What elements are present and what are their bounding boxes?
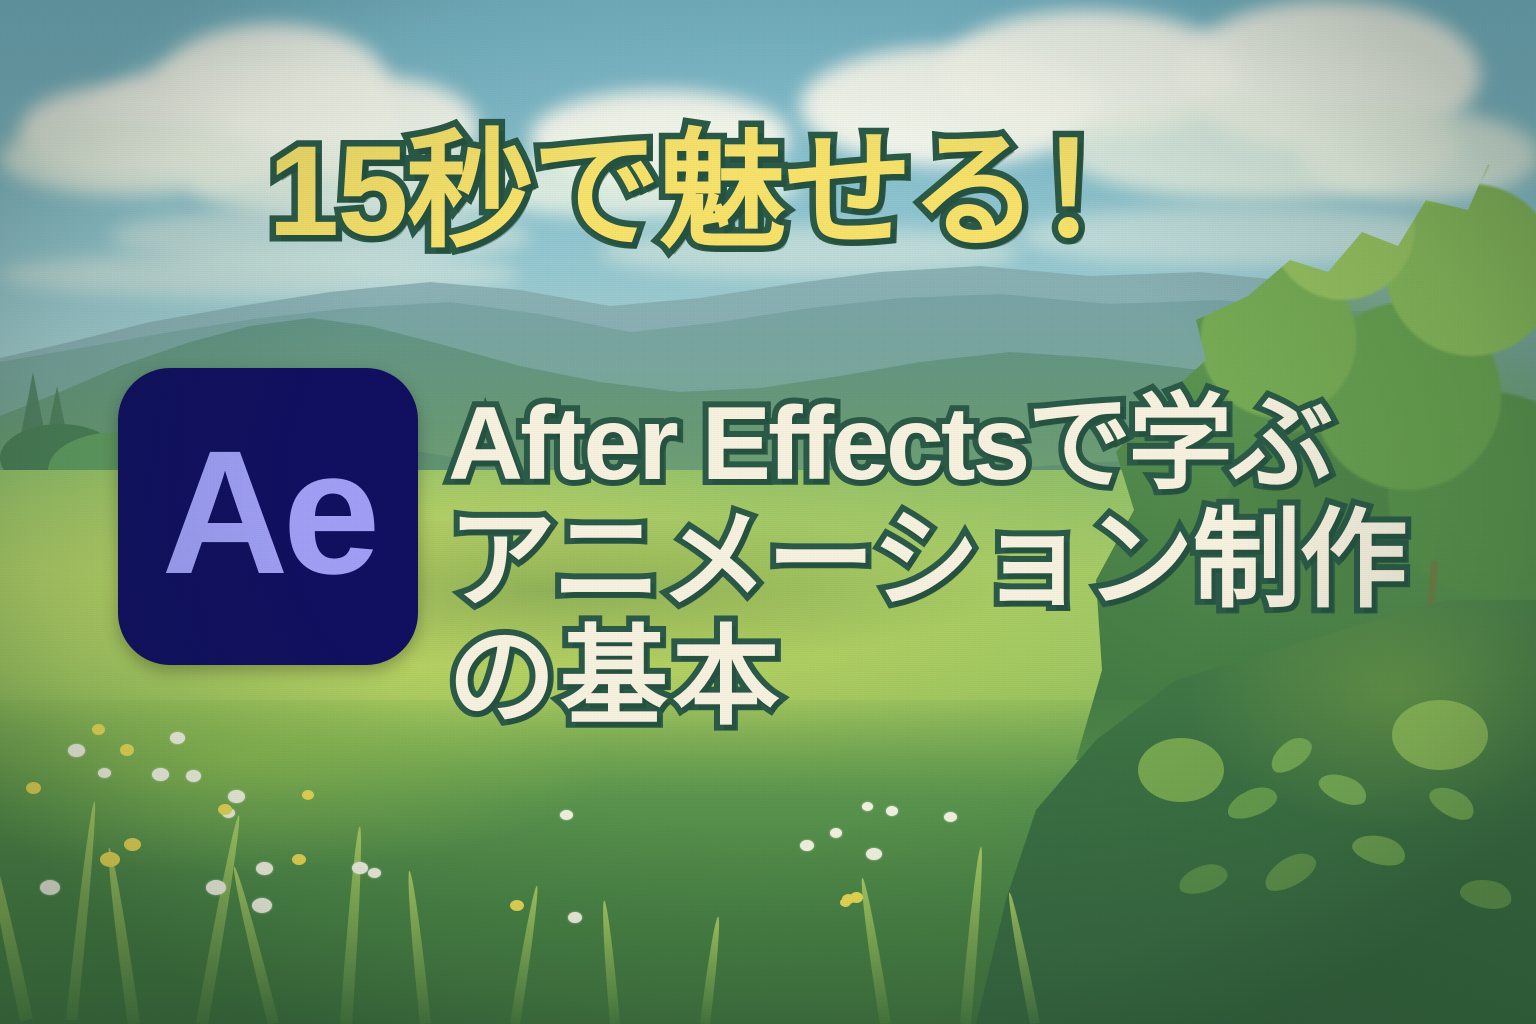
headline-text: 15秒で魅せる！: [268, 128, 1162, 256]
yellow-flower: [840, 898, 851, 907]
yellow-flower: [850, 892, 863, 903]
daisy-flower: [68, 744, 85, 757]
yellow-flower: [302, 790, 314, 800]
title-line-3: の基本: [448, 622, 1378, 731]
daisy-flower: [568, 912, 582, 923]
title-line-1: After Effectsで学ぶ: [448, 392, 1378, 497]
daisy-flower: [862, 802, 873, 811]
daisy-flower: [560, 810, 573, 820]
yellow-flower: [120, 744, 134, 756]
ae-logo-mark: Ae: [162, 425, 375, 601]
title-block: After Effectsで学ぶ アニメーション制作 の基本: [448, 392, 1378, 731]
daisy-flower: [800, 840, 814, 851]
daisy-flower: [98, 768, 111, 778]
daisy-flower: [352, 862, 368, 874]
yellow-flower: [218, 804, 232, 815]
title-line-2: アニメーション制作: [448, 505, 1378, 614]
thumbnail-canvas: 15秒で魅せる！ Ae After Effectsで学ぶ アニメーション制作 の…: [0, 0, 1536, 1024]
daisy-flower: [368, 868, 381, 878]
yellow-flower: [124, 838, 141, 851]
daisy-flower: [830, 828, 842, 838]
bush-shape: [1138, 738, 1224, 802]
daisy-flower: [40, 880, 60, 895]
daisy-flower: [256, 862, 273, 875]
yellow-flower: [510, 900, 524, 911]
daisy-flower: [152, 768, 169, 781]
daisy-flower: [866, 848, 882, 860]
daisy-flower: [170, 732, 185, 744]
daisy-flower: [944, 812, 957, 822]
yellow-flower: [100, 852, 120, 867]
daisy-flower: [228, 790, 245, 803]
daisy-flower: [206, 880, 226, 895]
daisy-flower: [886, 806, 898, 816]
daisy-flower: [186, 770, 201, 782]
yellow-flower: [92, 724, 105, 735]
yellow-flower: [26, 782, 41, 794]
adobe-after-effects-logo: Ae: [118, 368, 418, 665]
daisy-flower: [252, 898, 272, 913]
yellow-flower: [292, 854, 306, 865]
bush-shape: [1392, 700, 1488, 770]
